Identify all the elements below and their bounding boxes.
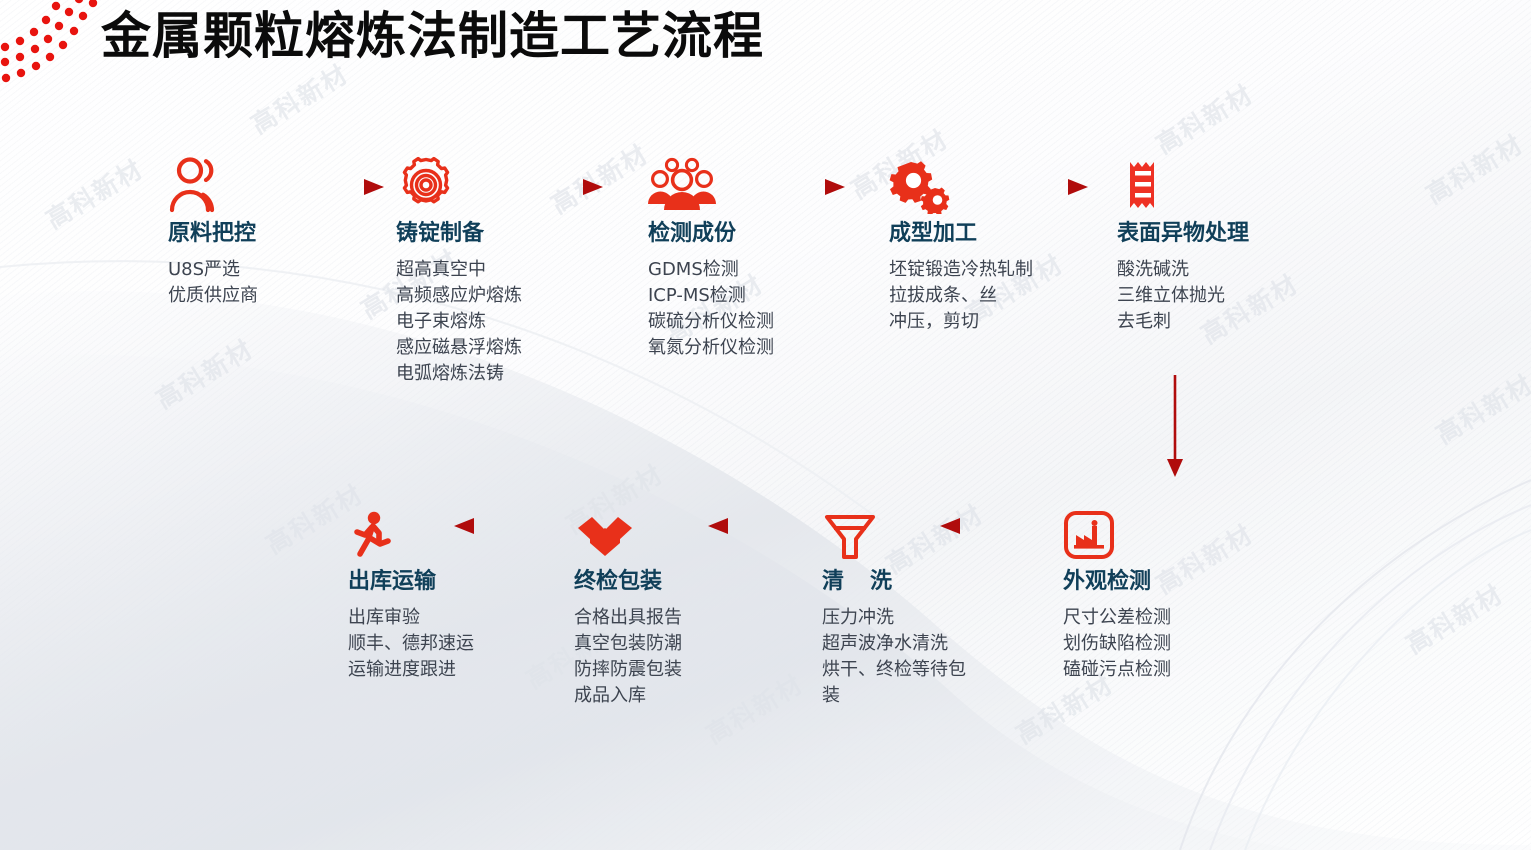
step-detail-line: 高频感应炉熔炼 xyxy=(396,283,646,309)
step-detail-list: 超高真空中 高频感应炉熔炼 电子束熔炼 感应磁悬浮熔炼 电弧熔炼法铸 xyxy=(396,257,646,387)
slide-canvas: 高科新材 高科新材 高科新材 高科新材 高科新材 高科新材 高科新材 高科新材 … xyxy=(0,0,1531,850)
step-detail-line: 感应磁悬浮熔炼 xyxy=(396,335,646,361)
walking-person-icon xyxy=(348,500,598,562)
step-detail-list: 坯锭锻造冷热轧制 拉拔成条、丝 冲压，剪切 xyxy=(889,257,1139,335)
step-card-outbound-shipping: 出库运输 出库审验 顺丰、德邦速运 运输进度跟进 xyxy=(348,500,598,683)
step-detail-line: 尺寸公差检测 xyxy=(1063,605,1313,631)
step-card-composition-test: 检测成份 GDMS检测 ICP-MS检测 碳硫分析仪检测 氧氮分析仪检测 xyxy=(648,152,898,361)
step-detail-line: 划伤缺陷检测 xyxy=(1063,631,1313,657)
step-detail-line: 磕碰污点检测 xyxy=(1063,657,1313,683)
step-detail-list: 酸洗碱洗 三维立体抛光 去毛刺 xyxy=(1117,257,1367,335)
step-title: 检测成份 xyxy=(648,220,898,248)
step-detail-line: 运输进度跟进 xyxy=(348,657,598,683)
step-detail-line: 坯锭锻造冷热轧制 xyxy=(889,257,1139,283)
people-group-icon xyxy=(648,152,898,214)
step-title: 出库运输 xyxy=(348,568,598,596)
step-detail-line: 电子束熔炼 xyxy=(396,309,646,335)
inspection-factory-icon xyxy=(1063,500,1313,562)
funnel-icon xyxy=(822,500,1072,562)
step-detail-line: 去毛刺 xyxy=(1117,309,1367,335)
step-card-ingot-preparation: 铸锭制备 超高真空中 高频感应炉熔炼 电子束熔炼 感应磁悬浮熔炼 电弧熔炼法铸 xyxy=(396,152,646,387)
page-title: 金属颗粒熔炼法制造工艺流程 xyxy=(101,6,764,66)
step-detail-line: 超高真空中 xyxy=(396,257,646,283)
step-title: 原料把控 xyxy=(168,220,418,248)
step-detail-list: 尺寸公差检测 划伤缺陷检测 磕碰污点检测 xyxy=(1063,605,1313,683)
step-card-appearance-inspection: 外观检测 尺寸公差检测 划伤缺陷检测 磕碰污点检测 xyxy=(1063,500,1313,683)
step-detail-line: 合格出具报告 xyxy=(574,605,824,631)
step-detail-list: GDMS检测 ICP-MS检测 碳硫分析仪检测 氧氮分析仪检测 xyxy=(648,257,898,361)
step-detail-line: 真空包装防潮 xyxy=(574,631,824,657)
step-detail-list: 压力冲洗 超声波净水清洗 烘干、终检等待包装 xyxy=(822,605,1072,709)
step-detail-line: 优质供应商 xyxy=(168,283,418,309)
step-card-cleaning: 清洗 压力冲洗 超声波净水清洗 烘干、终检等待包装 xyxy=(822,500,1072,709)
step-detail-list: 出库审验 顺丰、德邦速运 运输进度跟进 xyxy=(348,605,598,683)
step-detail-list: 合格出具报告 真空包装防潮 防摔防震包装 成品入库 xyxy=(574,605,824,709)
open-box-icon xyxy=(574,500,824,562)
step-detail-line: 顺丰、德邦速运 xyxy=(348,631,598,657)
step-card-final-packaging: 终检包装 合格出具报告 真空包装防潮 防摔防震包装 成品入库 xyxy=(574,500,824,709)
step-detail-line: 成品入库 xyxy=(574,683,824,709)
step-detail-list: U8S严选 优质供应商 xyxy=(168,257,418,309)
gear-icon xyxy=(396,152,646,214)
step-card-raw-material: 原料把控 U8S严选 优质供应商 xyxy=(168,152,418,309)
step-detail-line: 拉拔成条、丝 xyxy=(889,283,1139,309)
step-detail-line: 防摔防震包装 xyxy=(574,657,824,683)
step-title: 终检包装 xyxy=(574,568,824,596)
step-detail-line: U8S严选 xyxy=(168,257,418,283)
step-title: 清洗 xyxy=(822,568,1072,596)
step-card-surface-treatment: 表面异物处理 酸洗碱洗 三维立体抛光 去毛刺 xyxy=(1117,152,1367,335)
gears-icon xyxy=(889,152,1139,214)
step-detail-line: 三维立体抛光 xyxy=(1117,283,1367,309)
step-detail-line: 氧氮分析仪检测 xyxy=(648,335,898,361)
step-title: 表面异物处理 xyxy=(1117,220,1367,248)
step-detail-line: GDMS检测 xyxy=(648,257,898,283)
step-detail-line: 超声波净水清洗 xyxy=(822,631,982,657)
users-two-icon xyxy=(168,152,418,214)
step-detail-line: 压力冲洗 xyxy=(822,605,982,631)
step-detail-line: 冲压，剪切 xyxy=(889,309,1139,335)
step-detail-line: 出库审验 xyxy=(348,605,598,631)
step-detail-line: ICP-MS检测 xyxy=(648,283,898,309)
step-detail-line: 电弧熔炼法铸 xyxy=(396,361,646,387)
step-title: 成型加工 xyxy=(889,220,1139,248)
step-title: 铸锭制备 xyxy=(396,220,646,248)
document-receipt-icon xyxy=(1117,152,1367,214)
step-title: 外观检测 xyxy=(1063,568,1313,596)
background-swoosh xyxy=(0,0,1531,850)
step-detail-line: 酸洗碱洗 xyxy=(1117,257,1367,283)
step-detail-line: 碳硫分析仪检测 xyxy=(648,309,898,335)
step-detail-line: 烘干、终检等待包装 xyxy=(822,657,982,709)
step-card-forming-process: 成型加工 坯锭锻造冷热轧制 拉拔成条、丝 冲压，剪切 xyxy=(889,152,1139,335)
